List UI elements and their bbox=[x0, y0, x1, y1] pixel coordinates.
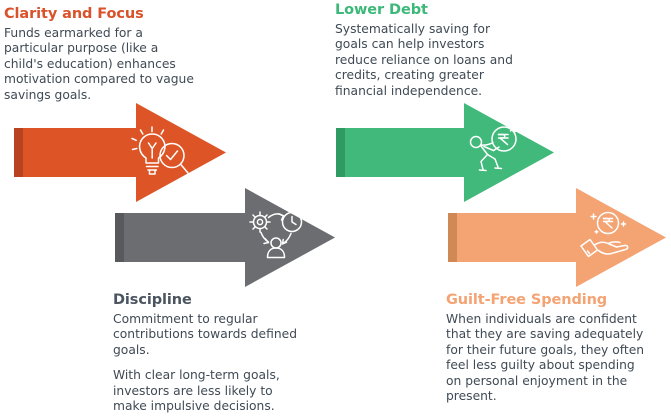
panel-body-guilt-free-spending: When individuals are confident that they… bbox=[446, 312, 646, 404]
paragraph: With clear long-term goals, investors ar… bbox=[113, 368, 309, 414]
infographic-canvas: Clarity and Focus Funds earmarked for a … bbox=[0, 0, 671, 419]
paragraph: When individuals are confident that they… bbox=[446, 312, 646, 404]
paragraph: Commitment to regular contributions towa… bbox=[113, 312, 309, 358]
panel-body-discipline: Commitment to regular contributions towa… bbox=[113, 312, 309, 414]
panel-heading-lower-debt: Lower Debt bbox=[335, 2, 428, 19]
panel-body-lower-debt: Systematically saving for goals can help… bbox=[335, 22, 521, 99]
panel-body-clarity-and-focus: Funds earmarked for a particular purpose… bbox=[4, 26, 200, 103]
arrow-discipline bbox=[115, 188, 335, 287]
paragraph: Funds earmarked for a particular purpose… bbox=[4, 26, 200, 103]
arrow-guilt-free-spending bbox=[448, 188, 666, 287]
panel-heading-clarity-and-focus: Clarity and Focus bbox=[4, 6, 144, 23]
panel-heading-discipline: Discipline bbox=[113, 292, 192, 309]
paragraph: Systematically saving for goals can help… bbox=[335, 22, 521, 99]
panel-heading-guilt-free-spending: Guilt-Free Spending bbox=[446, 292, 607, 309]
